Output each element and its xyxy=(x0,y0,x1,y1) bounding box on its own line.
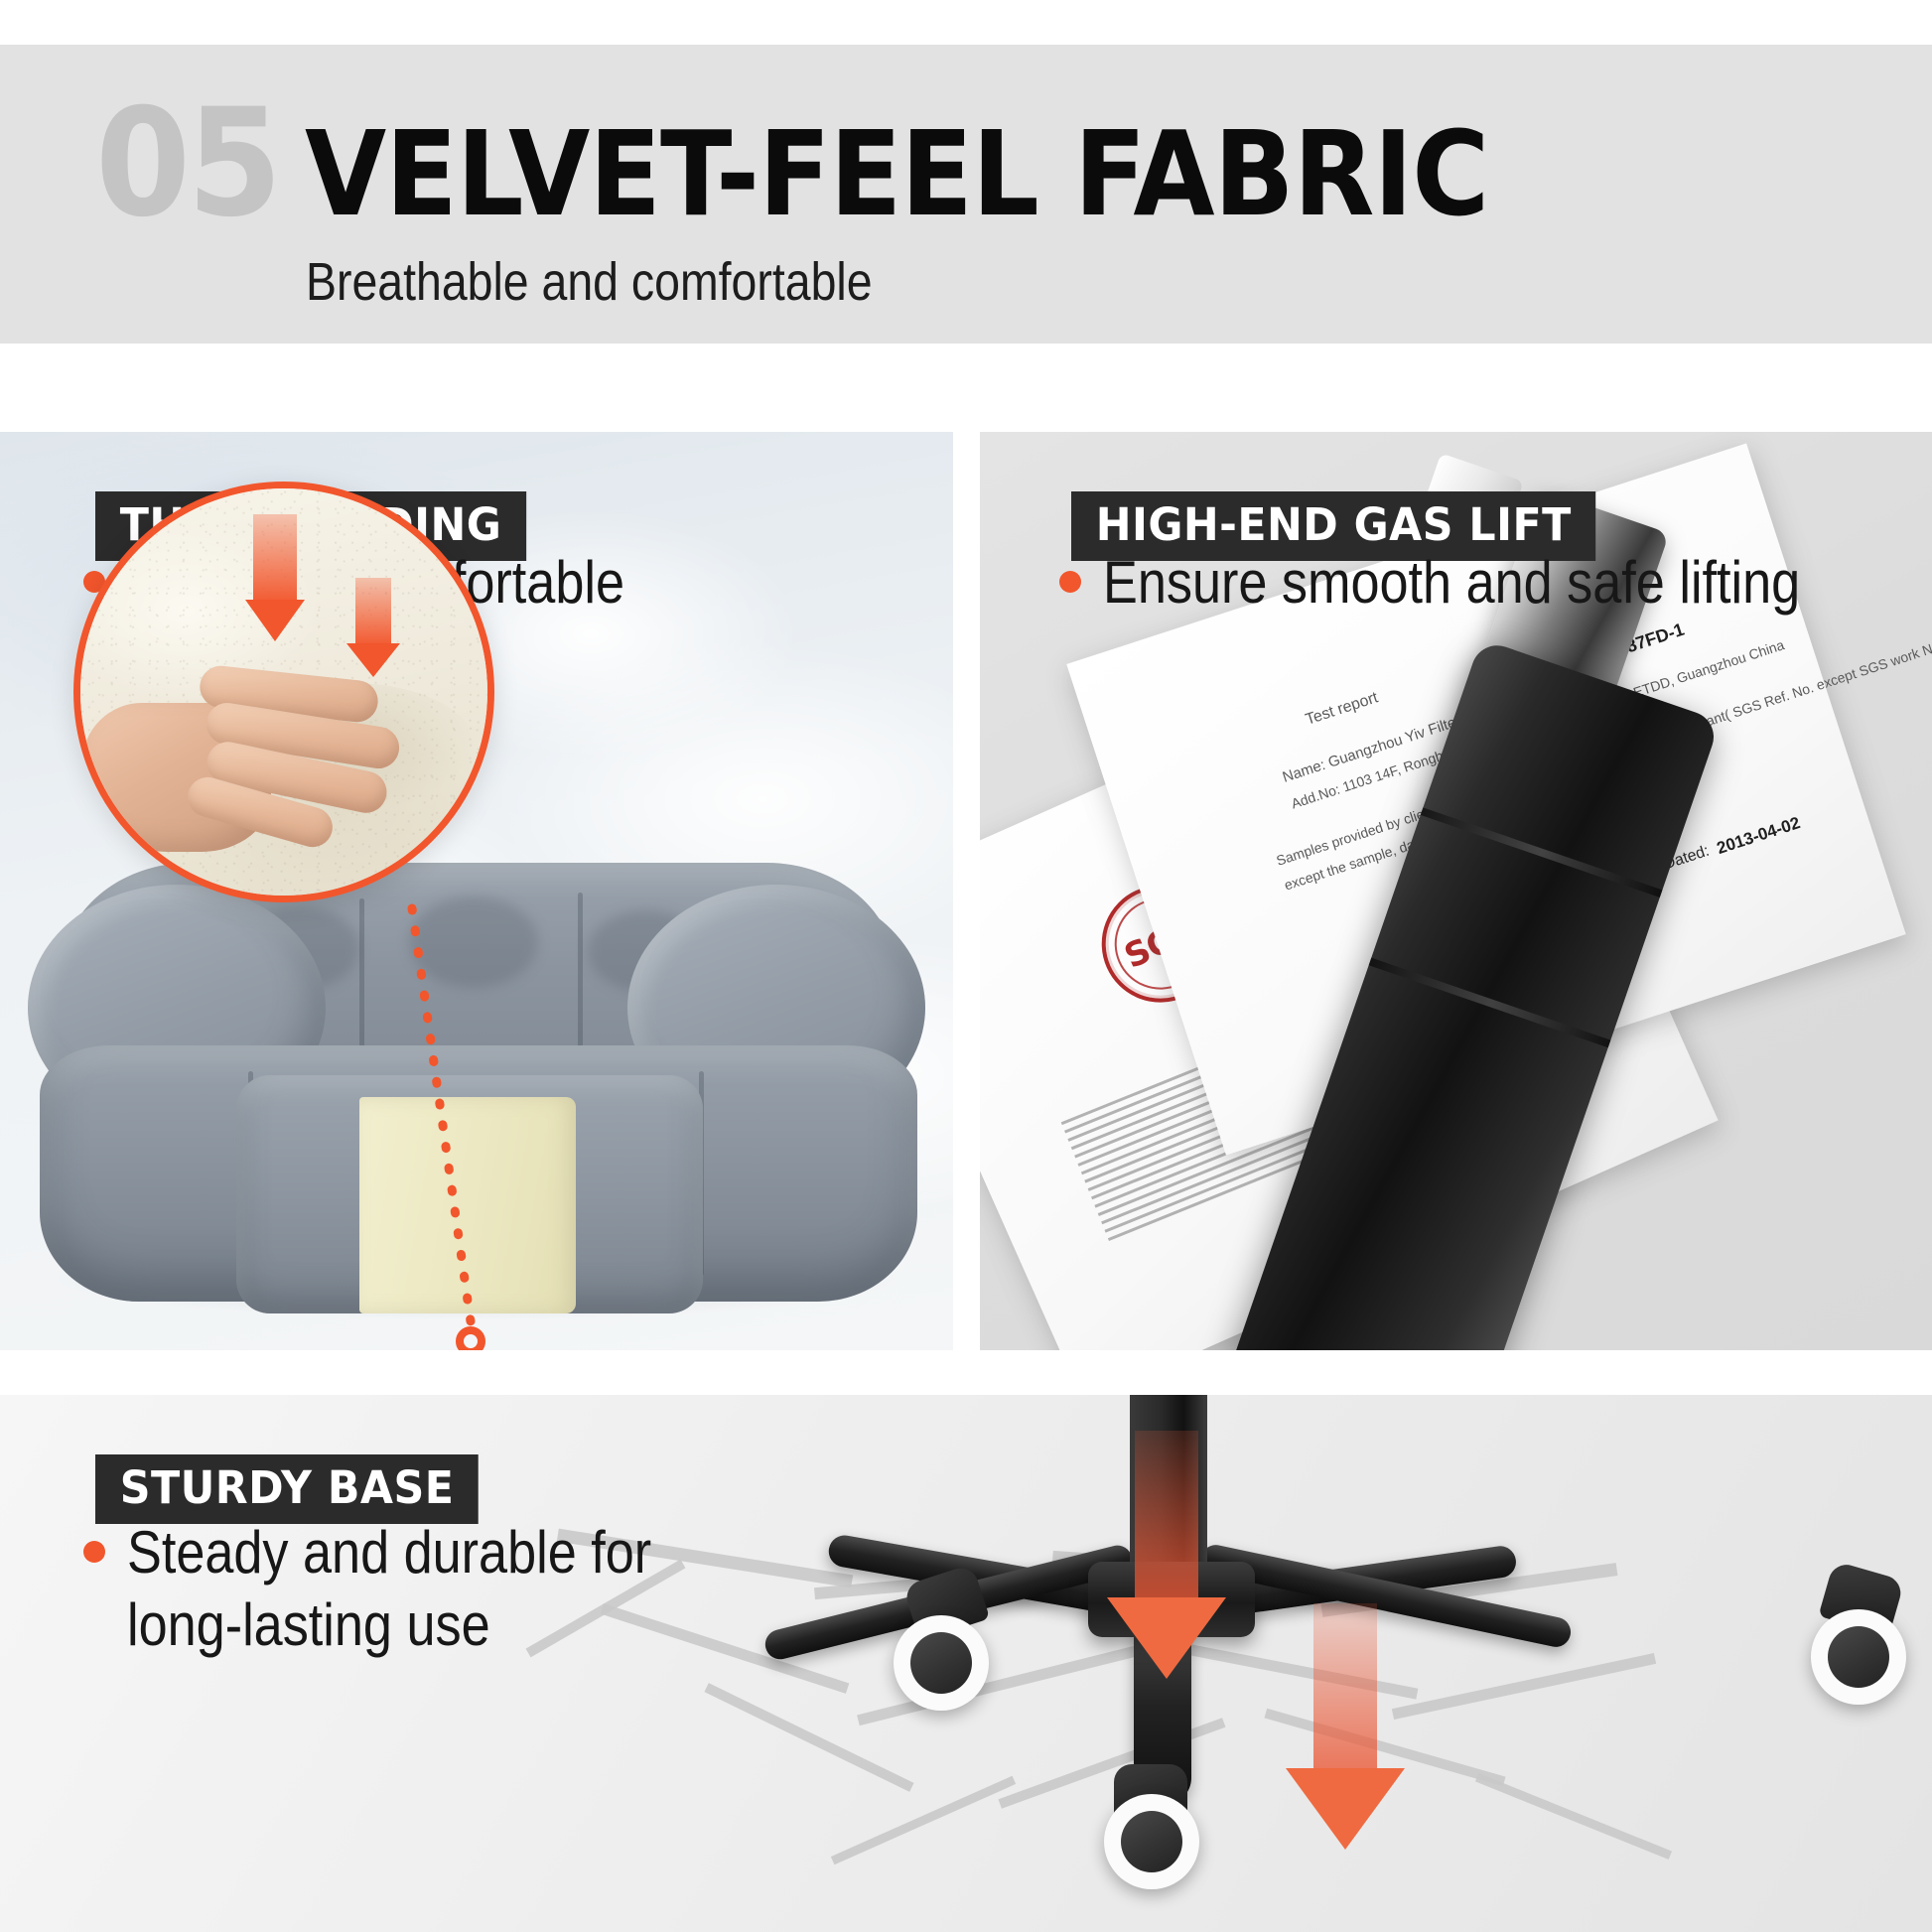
cracked-floor-icon xyxy=(704,1683,913,1792)
cylinder-band xyxy=(1421,807,1663,897)
bullet-sturdy-base: Steady and durable for long-lasting use xyxy=(83,1516,730,1661)
hand-pressing-foam-icon xyxy=(82,665,410,854)
foam-swatch xyxy=(359,1097,576,1313)
doc-test-report-label: Test report xyxy=(1304,689,1380,729)
ring-marker-icon xyxy=(456,1326,485,1350)
padding-callout-circle xyxy=(73,482,494,902)
tuft xyxy=(409,897,538,988)
infographic-page: 05 VELVET-FEEL FABRIC Breathable and com… xyxy=(0,0,1932,1932)
bullet-high-end-gas-lift: Ensure smooth and safe lifting xyxy=(1059,546,1904,619)
doc-date-value: 2013-04-02 xyxy=(1715,813,1803,859)
header-band: 05 VELVET-FEEL FABRIC Breathable and com… xyxy=(0,45,1932,344)
bullet-dot-icon xyxy=(83,1541,105,1563)
step-number: 05 xyxy=(95,89,279,238)
caster-wheel-icon xyxy=(894,1615,989,1711)
badge-sturdy-base: STURDY BASE xyxy=(95,1454,479,1524)
cracked-floor-icon xyxy=(831,1776,1016,1865)
page-subtitle: Breathable and comfortable xyxy=(306,251,873,313)
caster-wheel-icon xyxy=(1811,1609,1906,1705)
page-title: VELVET-FEEL FABRIC xyxy=(305,115,1488,232)
bullet-dot-icon xyxy=(1059,571,1081,593)
bullet-text-gas-lift: Ensure smooth and safe lifting xyxy=(1103,546,1800,619)
panel-high-end-gas-lift: SGS RAND. 4873911 SGS Test report Name: … xyxy=(980,432,1932,1350)
header-title-row: 05 VELVET-FEEL FABRIC xyxy=(95,89,1619,238)
panel-thick-padding: THICK PADDING Offer you comfortable expe… xyxy=(0,432,953,1350)
caster-wheel-icon xyxy=(1104,1794,1199,1889)
cracked-floor-icon xyxy=(1475,1773,1672,1860)
cylinder-band xyxy=(1369,958,1611,1048)
panel-sturdy-base: STURDY BASE Steady and durable for long-… xyxy=(0,1395,1932,1932)
header-inner: 05 VELVET-FEEL FABRIC Breathable and com… xyxy=(95,45,1783,344)
cracked-floor-icon xyxy=(1392,1653,1656,1720)
cracked-floor-icon xyxy=(999,1718,1226,1808)
bullet-text-sturdy-base: Steady and durable for long-lasting use xyxy=(127,1516,651,1661)
